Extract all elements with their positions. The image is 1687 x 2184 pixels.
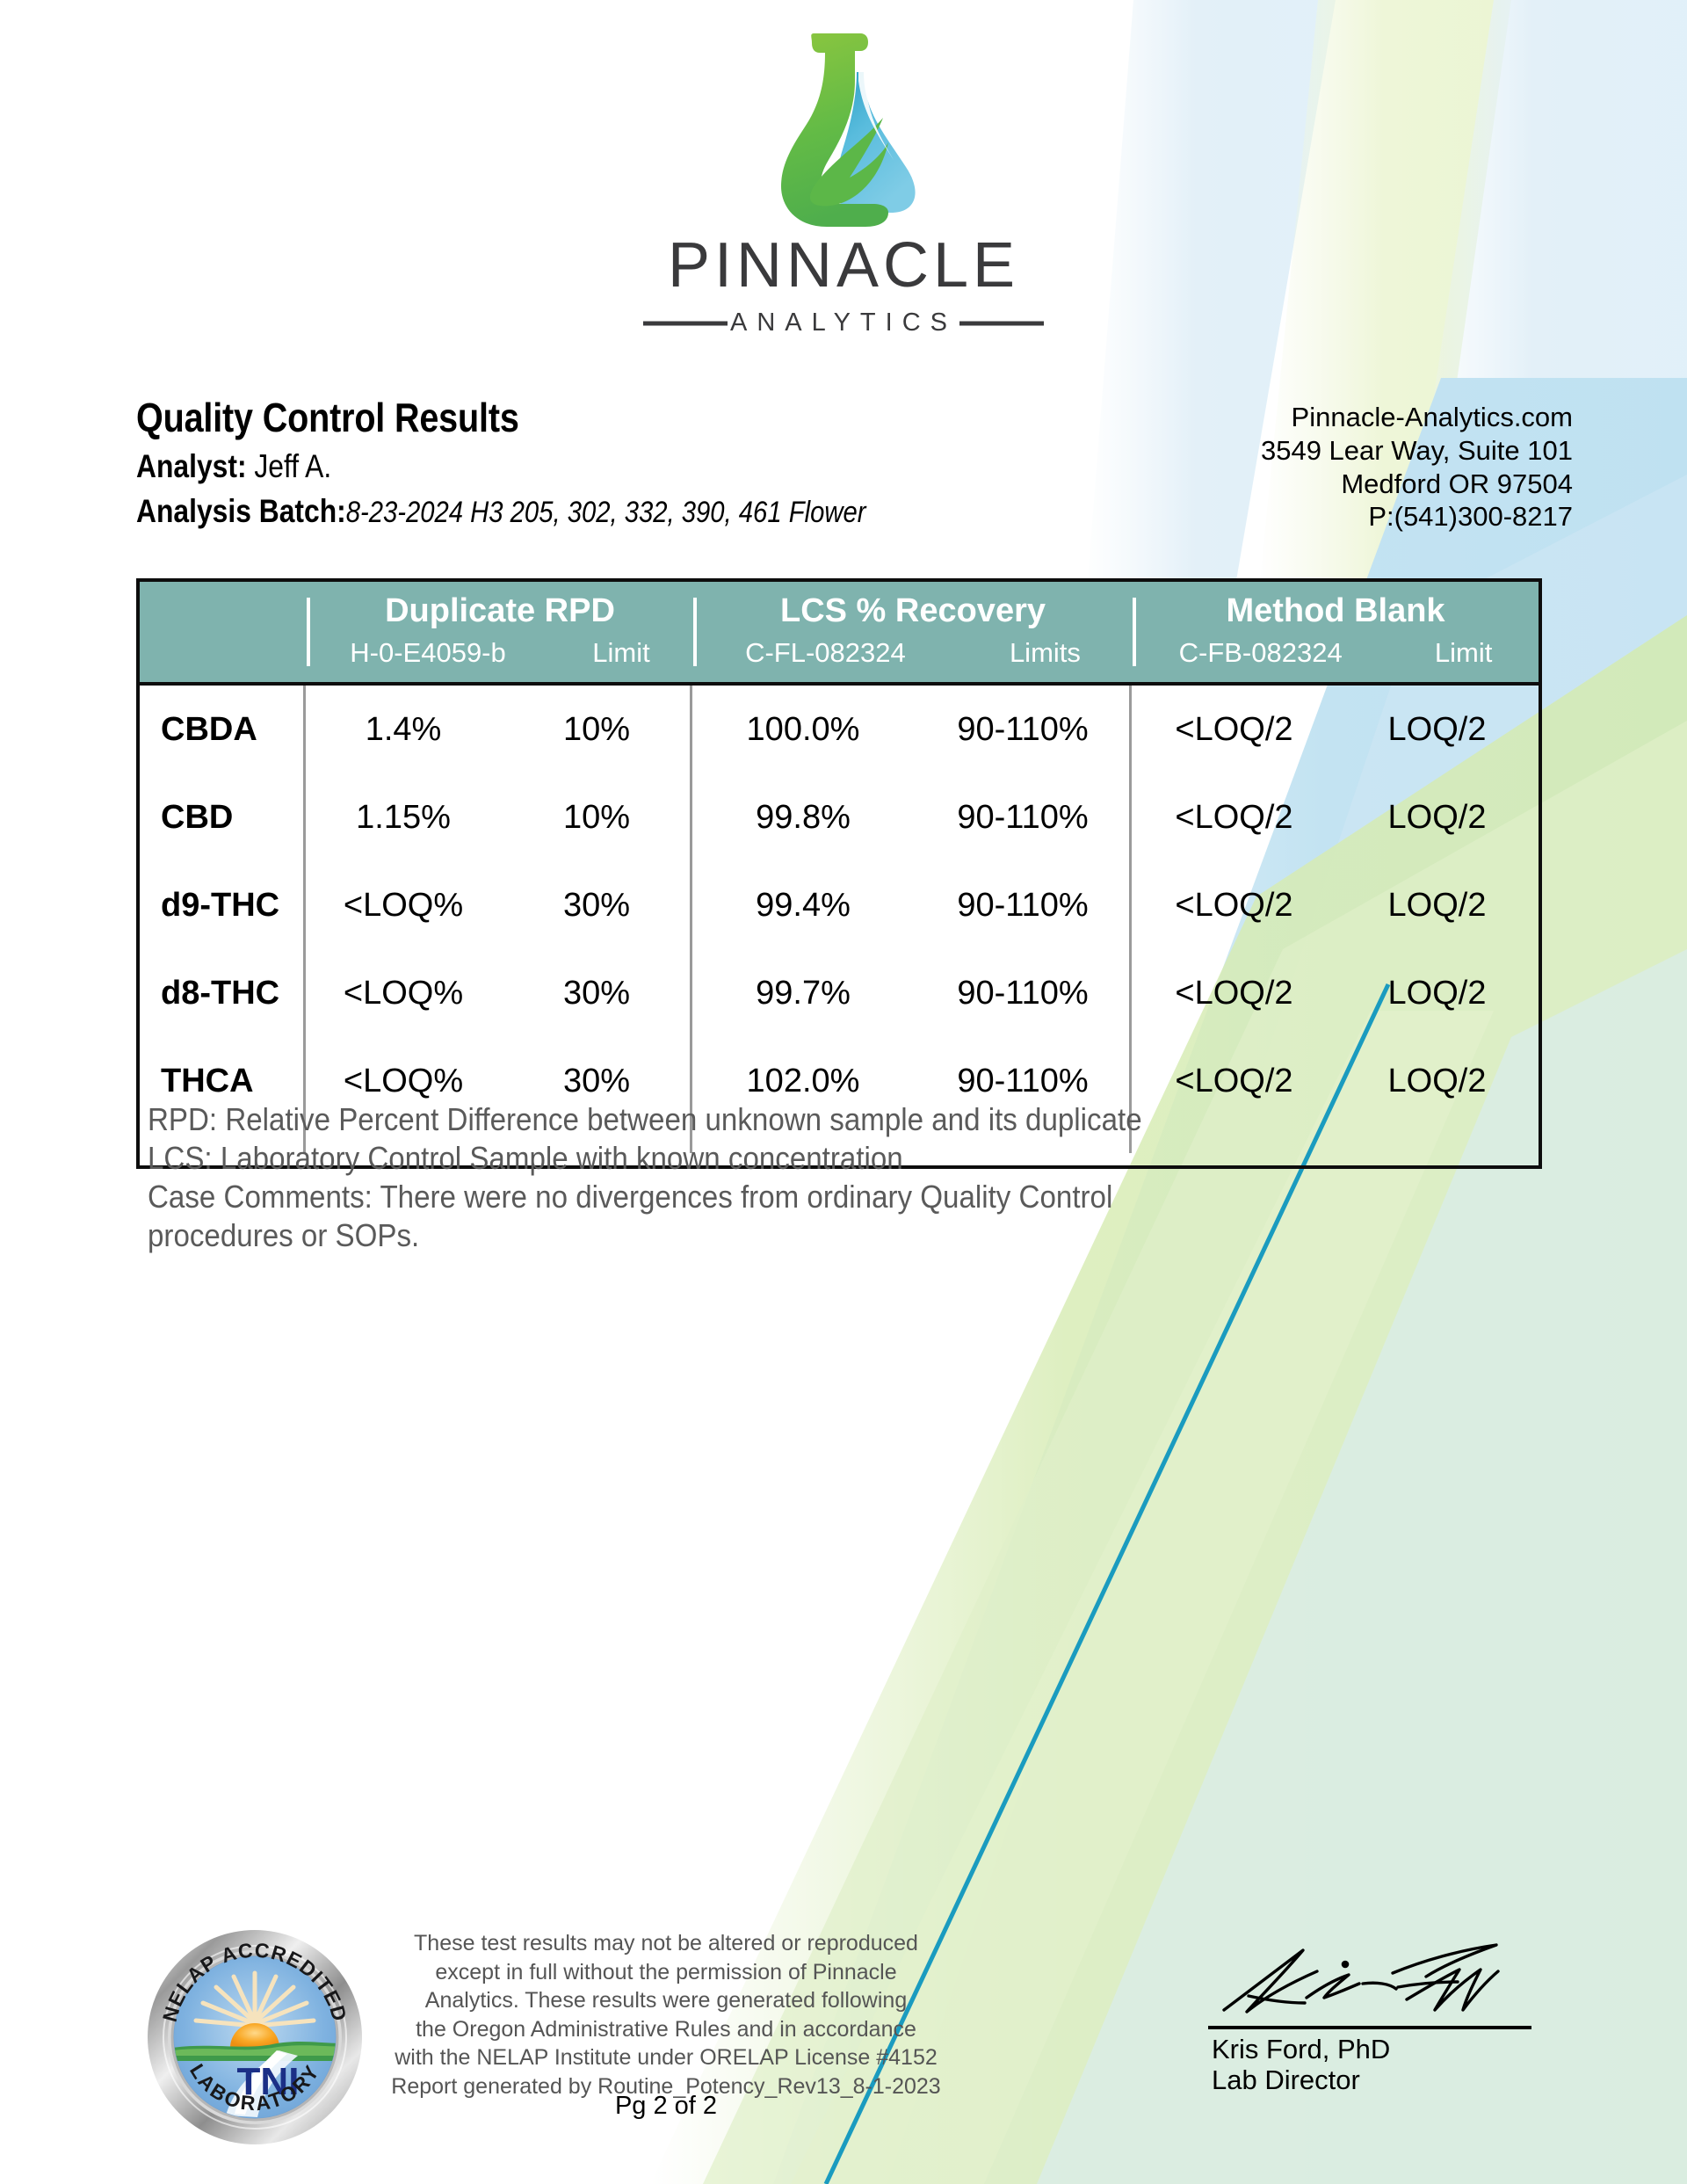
cell-lcs-limit: 90-110% — [913, 801, 1133, 834]
disclaimer-text: These test results may not be altered or… — [350, 1929, 982, 2101]
cell-rpd: 1.15% — [307, 801, 500, 834]
cell-lcs-limit: 90-110% — [913, 713, 1133, 746]
group-sub-left: C-FL-082324 — [745, 639, 906, 666]
body-divider — [690, 686, 692, 1153]
group-duplicate-rpd: Duplicate RPD H-0-E4059-b Limit — [307, 582, 693, 682]
cell-lcs-limit: 90-110% — [913, 976, 1133, 1010]
note-lcs: LCS: Laboratory Control Sample with know… — [148, 1139, 1408, 1178]
table-row: d8-THC<LOQ%30%99.7%90-110%<LOQ/2LOQ/2 — [140, 949, 1539, 1037]
cell-rpd-limit: 30% — [500, 1064, 693, 1098]
contact-city: Medford OR 97504 — [1261, 468, 1573, 501]
cell-analyte: CBDA — [140, 713, 307, 746]
signer-role: Lab Director — [1212, 2065, 1560, 2096]
cell-rpd: <LOQ% — [307, 1064, 500, 1098]
brand-wordmark: PINNACLE ANALYTICS — [580, 232, 1107, 346]
group-sub-right: Limit — [592, 639, 649, 666]
qc-results-table: Duplicate RPD H-0-E4059-b Limit LCS % Re… — [136, 578, 1542, 1169]
table-row: d9-THC<LOQ%30%99.4%90-110%<LOQ/2LOQ/2 — [140, 861, 1539, 949]
cell-analyte: d9-THC — [140, 889, 307, 922]
table-row: CBDA1.4%10%100.0%90-110%<LOQ/2LOQ/2 — [140, 686, 1539, 773]
cell-mb-limit: LOQ/2 — [1336, 889, 1539, 922]
svg-text:PINNACLE: PINNACLE — [668, 232, 1019, 301]
note-case-comments-2: procedures or SOPs. — [148, 1216, 1408, 1255]
handwritten-signature-icon — [1208, 1934, 1533, 2031]
group-lcs-recovery: LCS % Recovery C-FL-082324 Limits — [693, 582, 1133, 682]
cell-rpd-limit: 30% — [500, 976, 693, 1010]
batch-value: 8-23-2024 H3 205, 302, 332, 390, 461 Flo… — [346, 496, 866, 529]
cell-lcs-limit: 90-110% — [913, 889, 1133, 922]
body-divider — [1129, 686, 1132, 1153]
note-case-comments: Case Comments: There were no divergences… — [148, 1178, 1408, 1216]
cell-rpd: <LOQ% — [307, 889, 500, 922]
cell-mb-limit: LOQ/2 — [1336, 976, 1539, 1010]
body-divider — [303, 686, 306, 1153]
flask-leaf-logo-icon — [751, 26, 936, 237]
cell-lcs-limit: 90-110% — [913, 1064, 1133, 1098]
table-body: CBDA1.4%10%100.0%90-110%<LOQ/2LOQ/2CBD1.… — [140, 686, 1539, 1165]
signature-block: Kris Ford, PhD Lab Director — [1208, 1934, 1560, 2095]
disclaimer-line: with the NELAP Institute under ORELAP Li… — [350, 2043, 982, 2072]
cell-lcs: 100.0% — [693, 713, 913, 746]
group-title: Method Blank — [1133, 582, 1539, 628]
disclaimer-line: except in full without the permission of… — [350, 1958, 982, 1987]
report-footer: TNI NELAP ACCREDITED LABORATORY These te… — [0, 1920, 1687, 2184]
cell-lcs: 102.0% — [693, 1064, 913, 1098]
analyst-line: Analyst: Jeff A. — [136, 450, 865, 483]
note-rpd: RPD: Relative Percent Difference between… — [148, 1100, 1408, 1139]
cell-mb: <LOQ/2 — [1133, 713, 1336, 746]
cell-mb: <LOQ/2 — [1133, 889, 1336, 922]
group-method-blank: Method Blank C-FB-082324 Limit — [1133, 582, 1539, 682]
cell-rpd-limit: 10% — [500, 801, 693, 834]
disclaimer-line: the Oregon Administrative Rules and in a… — [350, 2015, 982, 2044]
cell-analyte: d8-THC — [140, 976, 307, 1010]
cell-rpd-limit: 10% — [500, 713, 693, 746]
brand-logo: PINNACLE ANALYTICS — [0, 26, 1687, 346]
group-title: Duplicate RPD — [307, 582, 693, 628]
page-number: Pg 2 of 2 — [350, 2092, 982, 2121]
cell-mb: <LOQ/2 — [1133, 976, 1336, 1010]
nelap-accredited-laboratory-seal-icon: TNI NELAP ACCREDITED LABORATORY — [145, 1927, 365, 2147]
contact-website: Pinnacle-Analytics.com — [1261, 401, 1573, 434]
page-title: Quality Control Results — [136, 397, 865, 438]
cell-lcs: 99.4% — [693, 889, 913, 922]
group-title: LCS % Recovery — [693, 582, 1133, 628]
signature-line — [1208, 2026, 1531, 2029]
cell-rpd: 1.4% — [307, 713, 500, 746]
disclaimer-line: Analytics. These results were generated … — [350, 1986, 982, 2015]
cell-rpd: <LOQ% — [307, 976, 500, 1010]
cell-rpd-limit: 30% — [500, 889, 693, 922]
table-notes: RPD: Relative Percent Difference between… — [148, 1100, 1518, 1255]
cell-mb: <LOQ/2 — [1133, 801, 1336, 834]
contact-phone: P:(541)300-8217 — [1261, 500, 1573, 533]
contact-street: 3549 Lear Way, Suite 101 — [1261, 434, 1573, 468]
lab-contact-info: Pinnacle-Analytics.com 3549 Lear Way, Su… — [1261, 397, 1573, 533]
cell-lcs: 99.7% — [693, 976, 913, 1010]
cell-analyte: THCA — [140, 1064, 307, 1098]
group-sub-left: C-FB-082324 — [1179, 639, 1343, 666]
cell-mb: <LOQ/2 — [1133, 1064, 1336, 1098]
analyte-column-header — [140, 582, 307, 682]
group-sub-left: H-0-E4059-b — [350, 639, 505, 666]
cell-mb-limit: LOQ/2 — [1336, 1064, 1539, 1098]
signer-name: Kris Ford, PhD — [1212, 2035, 1560, 2065]
table-row: CBD1.15%10%99.8%90-110%<LOQ/2LOQ/2 — [140, 773, 1539, 861]
cell-lcs: 99.8% — [693, 801, 913, 834]
disclaimer-line: These test results may not be altered or… — [350, 1929, 982, 1958]
batch-label: Analysis Batch: — [136, 493, 346, 529]
header-divider — [1133, 598, 1136, 666]
cell-mb-limit: LOQ/2 — [1336, 801, 1539, 834]
svg-text:ANALYTICS: ANALYTICS — [730, 308, 957, 337]
report-header: Quality Control Results Analyst: Jeff A.… — [136, 397, 1573, 533]
analyst-value: Jeff A. — [254, 448, 331, 484]
group-sub-right: Limits — [1010, 639, 1081, 666]
cell-analyte: CBD — [140, 801, 307, 834]
analyst-label: Analyst: — [136, 448, 247, 484]
group-sub-right: Limit — [1435, 639, 1492, 666]
header-divider — [693, 598, 697, 666]
cell-mb-limit: LOQ/2 — [1336, 713, 1539, 746]
header-divider — [307, 598, 310, 666]
batch-line: Analysis Batch:8-23-2024 H3 205, 302, 33… — [136, 495, 865, 527]
table-header: Duplicate RPD H-0-E4059-b Limit LCS % Re… — [140, 582, 1539, 686]
